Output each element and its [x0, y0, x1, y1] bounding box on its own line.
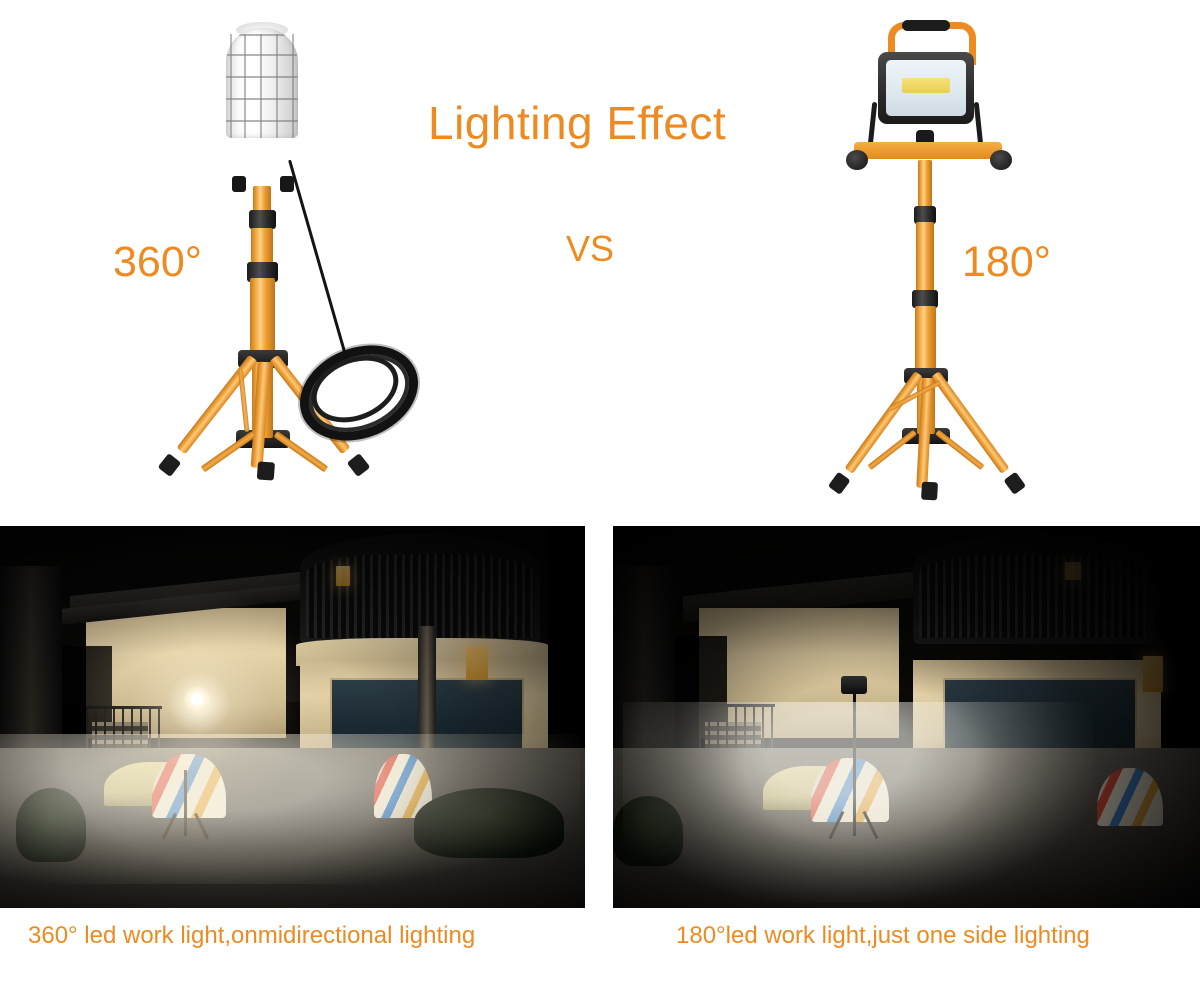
mount-bar-knob-right [990, 150, 1012, 170]
lamp-wire-cage [226, 28, 298, 138]
tripod-collar-upper [249, 210, 276, 229]
tripod-pole-middle-180 [916, 222, 934, 294]
tripod-brace-left [201, 431, 256, 472]
tripod-strut [238, 370, 249, 432]
tripod-foot-center-180 [921, 482, 938, 501]
photo-180-night-scene [613, 526, 1200, 908]
floodlight-yoke-left [868, 102, 878, 146]
photo-360-night-scene [0, 526, 585, 908]
caption-180: 180°led work light,just one side lightin… [676, 922, 1090, 950]
lamp-knob-right [280, 176, 294, 192]
product-image-180-work-light [810, 10, 1070, 510]
floodlight-handle-grip [902, 20, 950, 31]
caption-360: 360° led work light,onmidirectional ligh… [28, 922, 475, 950]
photo-comparison-row [0, 526, 1200, 908]
floodlight-yoke-right [974, 102, 984, 146]
floodlight-mount-bar [854, 142, 1002, 159]
tripod-foot-right-180 [1003, 472, 1026, 495]
lamp-knob-left [232, 176, 246, 192]
mount-bar-knob-left [846, 150, 868, 170]
lamp-base-housing [224, 132, 300, 180]
page-title: Lighting Effect [428, 96, 726, 150]
tripod-foot-left-180 [828, 472, 851, 495]
vs-separator-label: VS [566, 228, 614, 270]
power-cord-line [288, 160, 346, 353]
tripod-foot-right [347, 453, 371, 477]
lamp-source-360 [184, 686, 210, 712]
floodlight-led-chip [902, 78, 950, 93]
comparison-panel: Lighting Effect VS 360° 180° [0, 0, 1200, 520]
tripod-foot-center [257, 461, 275, 480]
tripod-brace-right [273, 431, 328, 472]
product-image-360-work-light [120, 10, 450, 510]
tripod-foot-left [158, 453, 182, 477]
lamp-source-180 [841, 676, 867, 694]
